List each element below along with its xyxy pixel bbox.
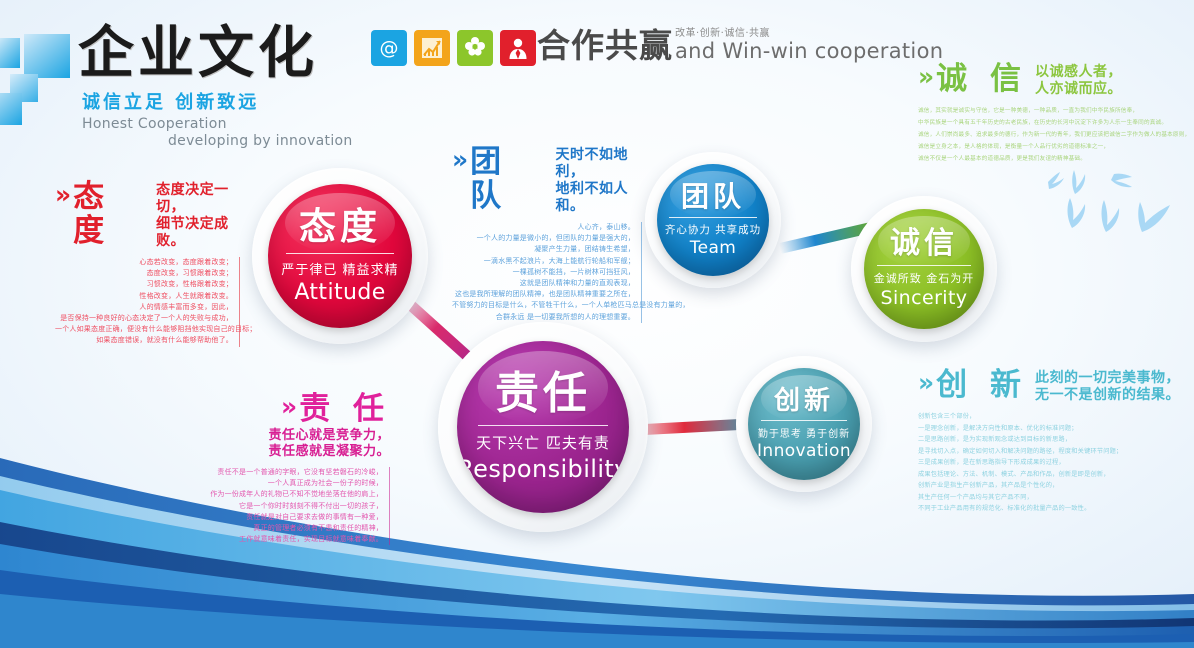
body-line: 二是思路创新，是为实现新观念或达到目标的新思路， [918, 434, 1194, 446]
slogan-line-2: 人亦诚而应。 [1035, 81, 1122, 97]
body-line: 三是成果创新，是在新思路指导下形成成果的过程， [918, 457, 1194, 469]
decor-square [0, 38, 20, 68]
body-line: 性格改变，人生就跟着改变。 [55, 291, 233, 302]
body-line: 一滴水黑不起浪片，大海上能航行轮船和军舰； [452, 256, 635, 267]
slogan-line-2: 责任感就是凝聚力。 [200, 444, 390, 460]
person-icon [500, 30, 536, 66]
body-line: 态度改变，习惯跟着改变； [55, 268, 233, 279]
node-responsibility-disc: 责任 天下兴亡 匹夫有责 Responsibility [457, 341, 629, 513]
chevron-right-icon: » [281, 392, 297, 422]
body-line: 人心齐，泰山移。 [452, 222, 635, 233]
body-line: 不同于工业产品用有的规范化、标准化的批量产品的一致性。 [918, 503, 1194, 515]
block-innovation-heading: 创 新 [936, 368, 1027, 402]
body-line: 创新包含三个部份， [918, 411, 1194, 423]
decor-square [0, 93, 22, 125]
birds-decoration [1042, 168, 1194, 268]
block-responsibility-body: 责任不是一个普通的字眼，它没有坚若磐石的冷峻， 一个人真正成为社会一份子的时候，… [200, 467, 390, 545]
body-line: 心态若改变，态度跟着改变； [55, 257, 233, 268]
body-line: 诚信，其实就是诚实与守信，它是一种美德，一种品质，一直为我们中华民族所信奉， [918, 105, 1194, 117]
decor-square [24, 34, 70, 78]
slogan-line-2: 细节决定成败。 [156, 216, 229, 249]
divider [478, 425, 608, 426]
node-team-disc: 团队 齐心协力 共享成功 Team [657, 164, 769, 276]
node-team[interactable]: 团队 齐心协力 共享成功 Team [645, 152, 781, 288]
divider [761, 420, 847, 421]
node-responsibility[interactable]: 责任 天下兴亡 匹夫有责 Responsibility [438, 322, 648, 532]
node-attitude-cn: 态度 [299, 208, 381, 245]
body-line: 责任就是对自己要求去做的事情有一种爱， [200, 512, 383, 523]
node-sincerity-cn: 诚信 [890, 229, 958, 259]
node-innovation-sub: 勤于思考 勇于创新 [758, 425, 850, 440]
body-line: 作为一份成年人的礼物已不知不觉地坐落在他的肩上， [200, 489, 383, 500]
block-sincerity-head: » 诚 信 以诚感人者， 人亦诚而应。 [918, 62, 1194, 98]
block-sincerity-heading: 诚 信 [936, 62, 1027, 96]
body-line: 诚信不仅是一个人最基本的道德品质，更是我们友谊的精神基础。 [918, 153, 1194, 165]
slogan-line-1: 态度决定一切， [156, 182, 229, 215]
block-sincerity-body: 诚信，其实就是诚实与守信，它是一种美德，一种品质，一直为我们中华民族所信奉， 中… [918, 105, 1194, 165]
node-innovation-cn: 创新 [774, 388, 834, 414]
body-line: 一个人的力量是微小的，但团队的力量是强大的， [452, 233, 635, 244]
node-sincerity-en: Sincerity [881, 287, 968, 309]
body-line: 创新产业是指生产创新产品，其产品是个性化的， [918, 480, 1194, 492]
node-responsibility-en: Responsibility [457, 455, 629, 483]
chart-growth-icon [414, 30, 450, 66]
body-line: 真正的管理者必须有不患和责任的精神， [200, 523, 383, 534]
block-sincerity-slogan: 以诚感人者， 人亦诚而应。 [1035, 62, 1122, 98]
cooperation-banner: 合作共赢 改革·创新·诚信·共赢 and Win-win cooperation [537, 29, 943, 62]
node-attitude[interactable]: 态度 严于律已 精益求精 Attitude [252, 168, 428, 344]
body-line: 凝聚产生力量，团结铸生希望， [452, 244, 635, 255]
block-team: » 团 队 天时不如地利， 地利不如人和。 人心齐，泰山移。 一个人的力量是微小… [452, 145, 642, 323]
body-line: 习惯改变，性格跟着改变； [55, 279, 233, 290]
icon-row: @ [371, 30, 536, 66]
cooperation-title: 合作共赢 [537, 29, 673, 62]
at-icon: @ [371, 30, 407, 66]
body-line: 一是理念创新，是解决方向性和原本、优化的标准问题； [918, 423, 1194, 435]
divider [286, 253, 394, 254]
block-team-heading: 团 队 [470, 145, 547, 213]
body-line: 一个人如果态度正确，便没有什么能够阻挡他实现自己的目标； [55, 324, 233, 335]
node-responsibility-cn: 责任 [495, 372, 591, 416]
chevron-right-icon: » [918, 62, 934, 92]
flower-icon [457, 30, 493, 66]
body-line: 合群永远 是一切要我所想的人的理想重要。 [452, 312, 635, 323]
body-line: 工作就意味着责任，实现目标就意味着奉献。 [200, 534, 383, 545]
poster-canvas: 企业文化 诚信立足 创新致远 Honest Cooperation develo… [0, 0, 1194, 648]
body-line: 不管努力的目标是什么，不管牲干什么，一个人单枪匹马总是没有力量的， [452, 300, 635, 311]
slogan-line-2: 无一不是创新的结果。 [1035, 387, 1180, 403]
block-responsibility-slogan: 责任心就是竞争力， 责任感就是凝聚力。 [200, 426, 390, 460]
node-innovation-disc: 创新 勤于思考 勇于创新 Innovation [748, 368, 860, 480]
slogan-line-2: 地利不如人和。 [556, 181, 629, 214]
brand-en-line2: developing by innovation [168, 133, 408, 149]
body-line: 它是一个你时时刻刻不得不付出一切的孩子， [200, 501, 383, 512]
slogan-line-1: 天时不如地利， [556, 147, 629, 180]
block-attitude-head: » 态 度 态度决定一切， 细节决定成败。 [55, 180, 240, 250]
brand-subtitle: 诚信立足 创新致远 [82, 88, 408, 114]
divider [669, 217, 757, 218]
block-team-head: » 团 队 天时不如地利， 地利不如人和。 [452, 145, 642, 215]
chevron-right-icon: » [918, 368, 934, 398]
brand-header: 企业文化 诚信立足 创新致远 Honest Cooperation develo… [78, 24, 408, 149]
block-attitude-slogan: 态度决定一切， 细节决定成败。 [156, 180, 240, 250]
node-team-cn: 团队 [681, 183, 745, 211]
body-line: 一棵孤树不能挡，一片树林可挡狂风， [452, 267, 635, 278]
slogan-line-1: 以诚感人者， [1035, 64, 1122, 80]
body-line: 诚信是立身之本，是人格的体现，是衡量一个人品行优劣的道德标准之一， [918, 141, 1194, 153]
block-team-body: 人心齐，泰山移。 一个人的力量是微小的，但团队的力量是强大的， 凝聚产生力量，团… [452, 222, 642, 323]
block-responsibility-heading: 责 任 [299, 392, 390, 426]
slogan-line-1: 责任心就是竞争力， [200, 428, 390, 444]
block-sincerity: » 诚 信 以诚感人者， 人亦诚而应。 诚信，其实就是诚实与守信，它是一种美德，… [918, 62, 1194, 165]
body-line: 责任不是一个普通的字眼，它没有坚若磐石的冷峻， [200, 467, 383, 478]
cooperation-en: and Win-win cooperation [675, 40, 943, 62]
chevron-right-icon: » [452, 145, 468, 175]
body-line: 其生产任何一个产品均与其它产品不同， [918, 492, 1194, 504]
node-sincerity[interactable]: 诚信 金诚所致 金石为开 Sincerity [851, 196, 997, 342]
block-innovation-head: » 创 新 此刻的一切完美事物， 无一不是创新的结果。 [918, 368, 1194, 404]
node-innovation-en: Innovation [757, 441, 851, 461]
body-line: 中华民族是一个具有五千年历史的古老民族，在历史的长河中沉淀下许多为人乐一生奉同的… [918, 117, 1194, 129]
block-innovation-body: 创新包含三个部份， 一是理念创新，是解决方向性和原本、优化的标准问题； 二是思路… [918, 411, 1194, 515]
node-sincerity-disc: 诚信 金诚所致 金石为开 Sincerity [864, 209, 984, 329]
block-innovation-slogan: 此刻的一切完美事物， 无一不是创新的结果。 [1035, 368, 1180, 404]
block-attitude-heading: 态 度 [73, 180, 148, 248]
body-line: 成果包括理论、方法、机制、模式、产品和作品，创新是即是创新， [918, 469, 1194, 481]
body-line: 一个人真正成为社会一份子的时候， [200, 478, 383, 489]
chevron-right-icon: » [55, 180, 71, 210]
block-innovation: » 创 新 此刻的一切完美事物， 无一不是创新的结果。 创新包含三个部份， 一是… [918, 368, 1194, 515]
node-sincerity-sub: 金诚所致 金石为开 [874, 270, 975, 286]
block-attitude: » 态 度 态度决定一切， 细节决定成败。 心态若改变，态度跟着改变； 态度改变… [55, 180, 240, 347]
node-attitude-en: Attitude [294, 280, 385, 305]
block-team-slogan: 天时不如地利， 地利不如人和。 [556, 145, 642, 215]
page-title: 企业文化 [78, 24, 408, 84]
block-responsibility: » 责 任 责任心就是竞争力， 责任感就是凝聚力。 责任不是一个普通的字眼，它没… [200, 392, 390, 545]
block-attitude-body: 心态若改变，态度跟着改变； 态度改变，习惯跟着改变； 习惯改变，性格跟着改变； … [55, 257, 240, 347]
node-team-en: Team [690, 238, 737, 258]
body-line: 诚信，人们崇尚最多、追求最多的德行，作为新一代的青年，我们更应该把诚信二字作为做… [918, 129, 1194, 141]
body-line: 是寻找切入点，确定如何切入和解决问题的路径，程度和关键环节问题； [918, 446, 1194, 458]
slogan-line-1: 此刻的一切完美事物， [1035, 370, 1180, 386]
body-line: 如果态度错误，就没有什么能够帮助他了。 [55, 335, 233, 346]
body-line: 人的情感丰富而多变，因此， [55, 302, 233, 313]
block-responsibility-head: » 责 任 [200, 392, 390, 426]
node-attitude-sub: 严于律已 精益求精 [281, 259, 398, 278]
divider [877, 265, 971, 266]
body-line: 这也是我所理解的团队精神，也是团队精神重要之所在， [452, 289, 635, 300]
svg-text:@: @ [380, 37, 399, 59]
body-line: 这就是团队精神和力量的直观表现， [452, 278, 635, 289]
brand-en-line1: Honest Cooperation [82, 116, 408, 132]
node-attitude-disc: 态度 严于律已 精益求精 Attitude [268, 184, 412, 328]
node-team-sub: 齐心协力 共享成功 [665, 222, 761, 237]
body-line: 是否保持一种良好的心态决定了一个人的失败与成功， [55, 313, 233, 324]
node-innovation[interactable]: 创新 勤于思考 勇于创新 Innovation [736, 356, 872, 492]
node-responsibility-sub: 天下兴亡 匹夫有责 [476, 432, 610, 453]
